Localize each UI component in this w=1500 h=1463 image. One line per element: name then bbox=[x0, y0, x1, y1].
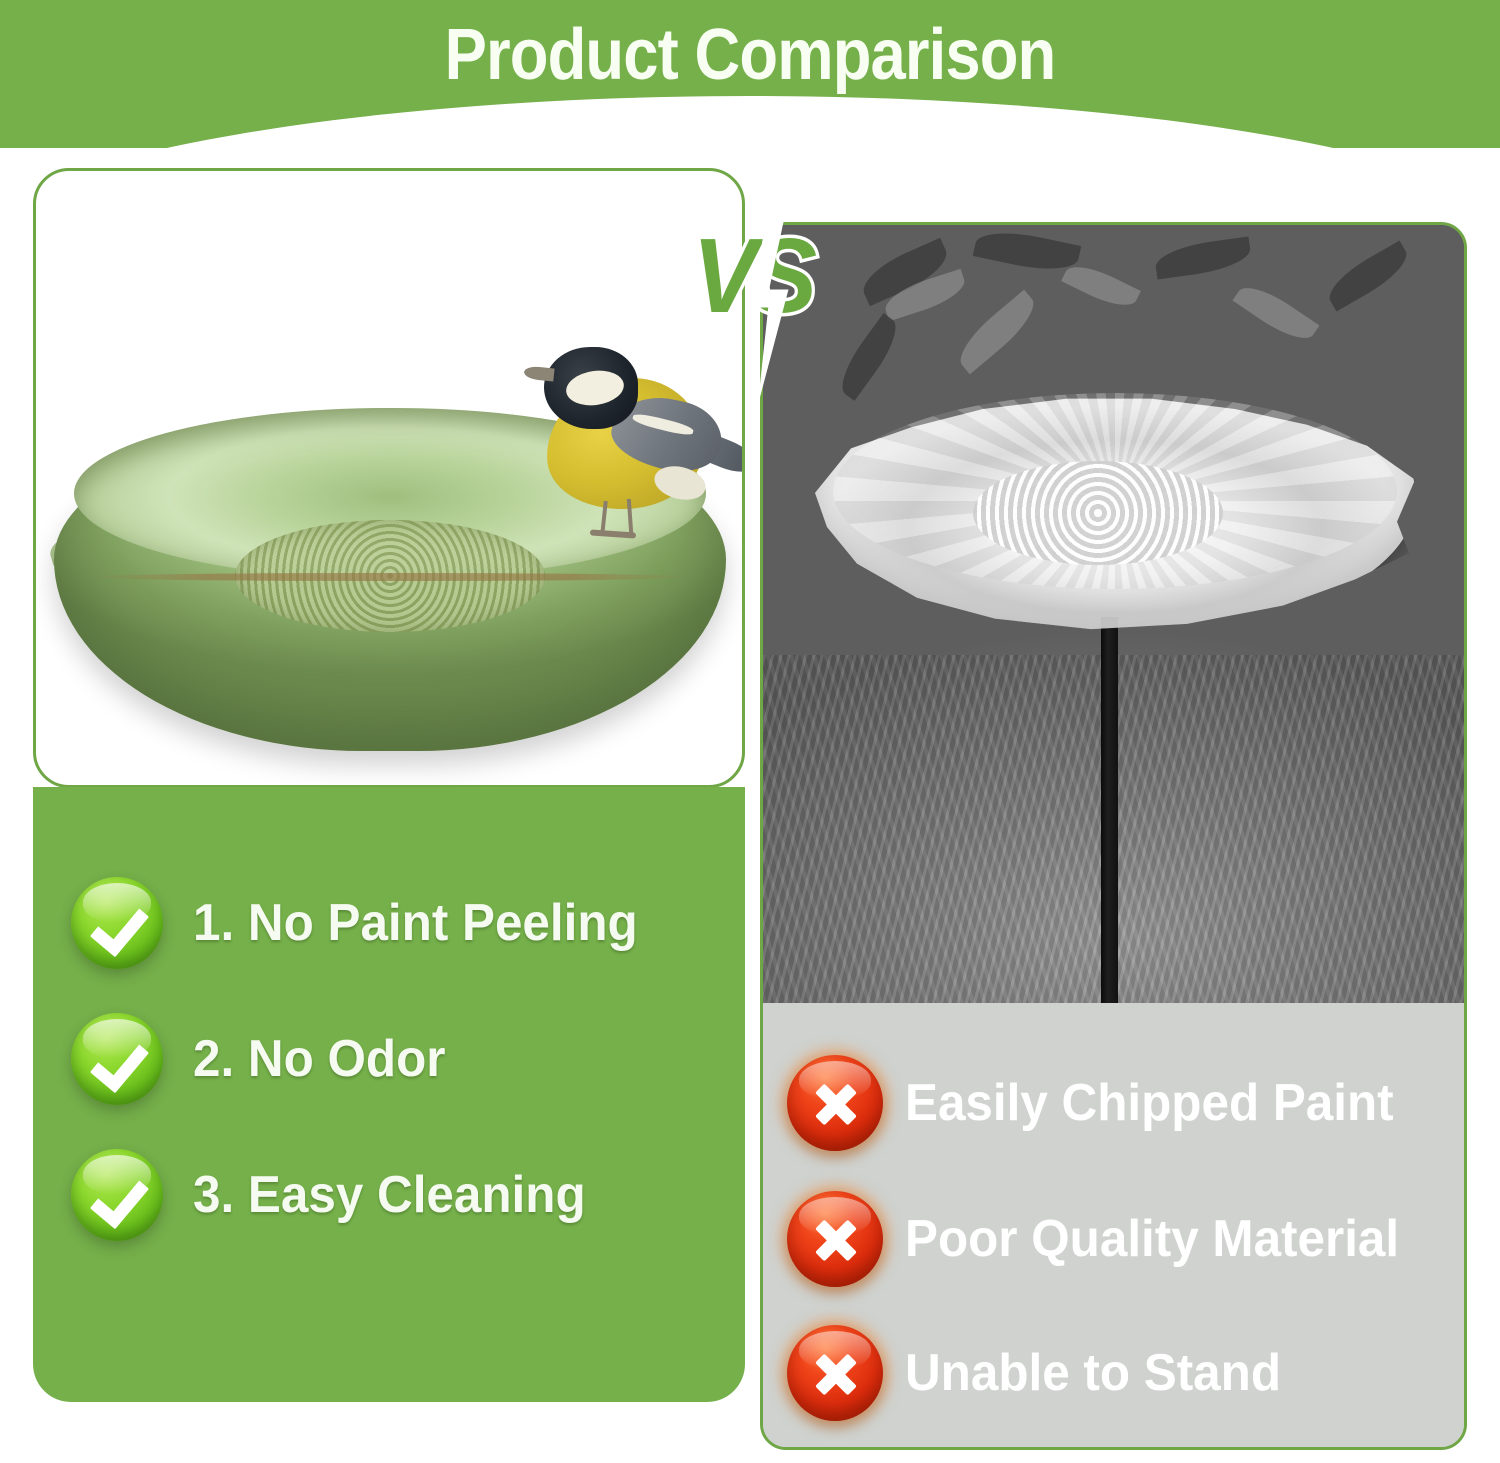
left-product-image-card bbox=[33, 168, 745, 788]
leaf-shape bbox=[832, 313, 906, 401]
con-label: Poor Quality Material bbox=[905, 1209, 1399, 1269]
x-circle-icon bbox=[787, 1055, 883, 1151]
leaf-shape bbox=[951, 290, 1044, 375]
header-banner: Product Comparison bbox=[0, 0, 1500, 148]
x-circle-icon bbox=[787, 1191, 883, 1287]
x-mark-glyph bbox=[787, 1055, 883, 1151]
list-item: Easily Chipped Paint bbox=[787, 1051, 1459, 1155]
pro-label: 3. Easy Cleaning bbox=[193, 1165, 586, 1225]
list-item: Poor Quality Material bbox=[787, 1187, 1459, 1291]
bowl-rim-edge bbox=[88, 573, 693, 581]
check-mark-glyph bbox=[93, 896, 145, 948]
con-label: Unable to Stand bbox=[905, 1343, 1281, 1403]
list-item: 1. No Paint Peeling bbox=[71, 873, 731, 973]
right-product-column: Easily Chipped Paint Poor Quality Materi… bbox=[760, 222, 1467, 1450]
header-wave-divider bbox=[0, 96, 1500, 148]
page-title: Product Comparison bbox=[90, 14, 1410, 96]
x-mark-glyph bbox=[787, 1191, 883, 1287]
pro-label: 1. No Paint Peeling bbox=[193, 893, 638, 953]
leaf-shape bbox=[1233, 277, 1320, 348]
glass-bowl-ripple-center bbox=[973, 461, 1223, 565]
leaf-shape bbox=[973, 225, 1081, 277]
bird-beak bbox=[523, 365, 554, 381]
left-product-column: 1. No Paint Peeling 2. No Odor 3. Easy C… bbox=[33, 168, 745, 1402]
cons-list: Easily Chipped Paint Poor Quality Materi… bbox=[763, 1003, 1464, 1447]
glass-birdbath-photo bbox=[763, 225, 1464, 1003]
x-circle-icon bbox=[787, 1325, 883, 1421]
check-circle-icon bbox=[71, 1149, 163, 1241]
leaf-shape bbox=[1322, 241, 1415, 312]
list-item: Unable to Stand bbox=[787, 1321, 1459, 1425]
x-mark-glyph bbox=[787, 1325, 883, 1421]
ceramic-birdbath-photo bbox=[36, 171, 742, 785]
leaf-shape bbox=[1153, 236, 1252, 279]
check-circle-icon bbox=[71, 1013, 163, 1105]
metal-stake bbox=[1101, 617, 1118, 1003]
list-item: 2. No Odor bbox=[71, 1009, 731, 1109]
comparison-infographic: Product Comparison bbox=[0, 0, 1500, 1463]
pros-panel: 1. No Paint Peeling 2. No Odor 3. Easy C… bbox=[33, 787, 745, 1402]
check-circle-icon bbox=[71, 877, 163, 969]
pro-label: 2. No Odor bbox=[193, 1029, 446, 1089]
pros-list: 1. No Paint Peeling 2. No Odor 3. Easy C… bbox=[33, 787, 745, 1402]
check-mark-glyph bbox=[93, 1168, 145, 1220]
check-mark-glyph bbox=[93, 1032, 145, 1084]
list-item: 3. Easy Cleaning bbox=[71, 1145, 731, 1245]
con-label: Easily Chipped Paint bbox=[905, 1073, 1394, 1133]
leaf-shape bbox=[1061, 258, 1141, 315]
great-tit-bird-icon bbox=[504, 341, 742, 546]
